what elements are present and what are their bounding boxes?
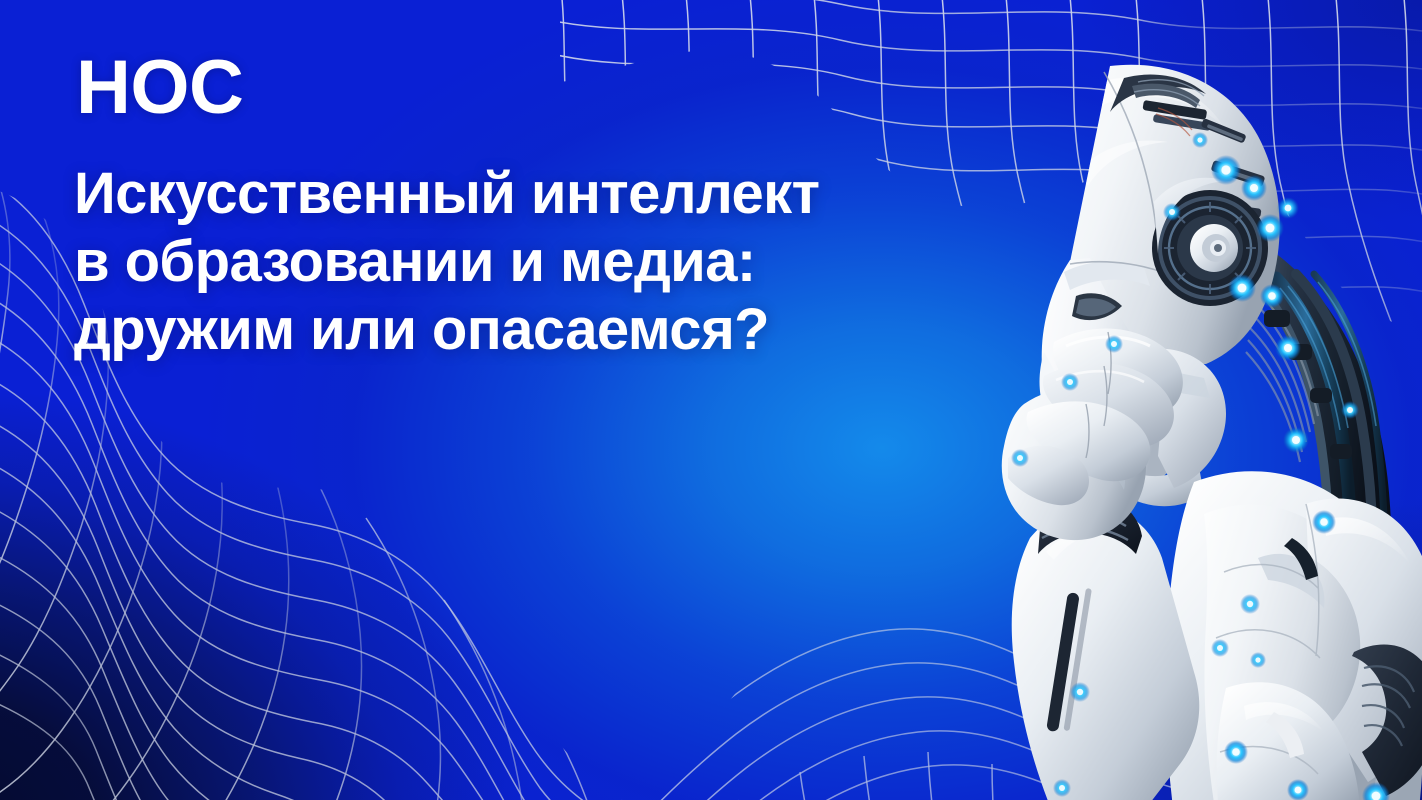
slide-canvas: НОС Искусственный интеллект в образовани… (0, 0, 1422, 800)
page-title-line-1: Искусственный интеллект (74, 160, 974, 228)
page-title-line-3: дружим или опасаемся? (74, 296, 974, 364)
title-block: НОС Искусственный интеллект в образовани… (74, 52, 974, 364)
brand-logo: НОС (76, 52, 974, 124)
page-title: Искусственный интеллект в образовании и … (74, 160, 974, 364)
page-title-line-2: в образовании и медиа: (74, 228, 974, 296)
